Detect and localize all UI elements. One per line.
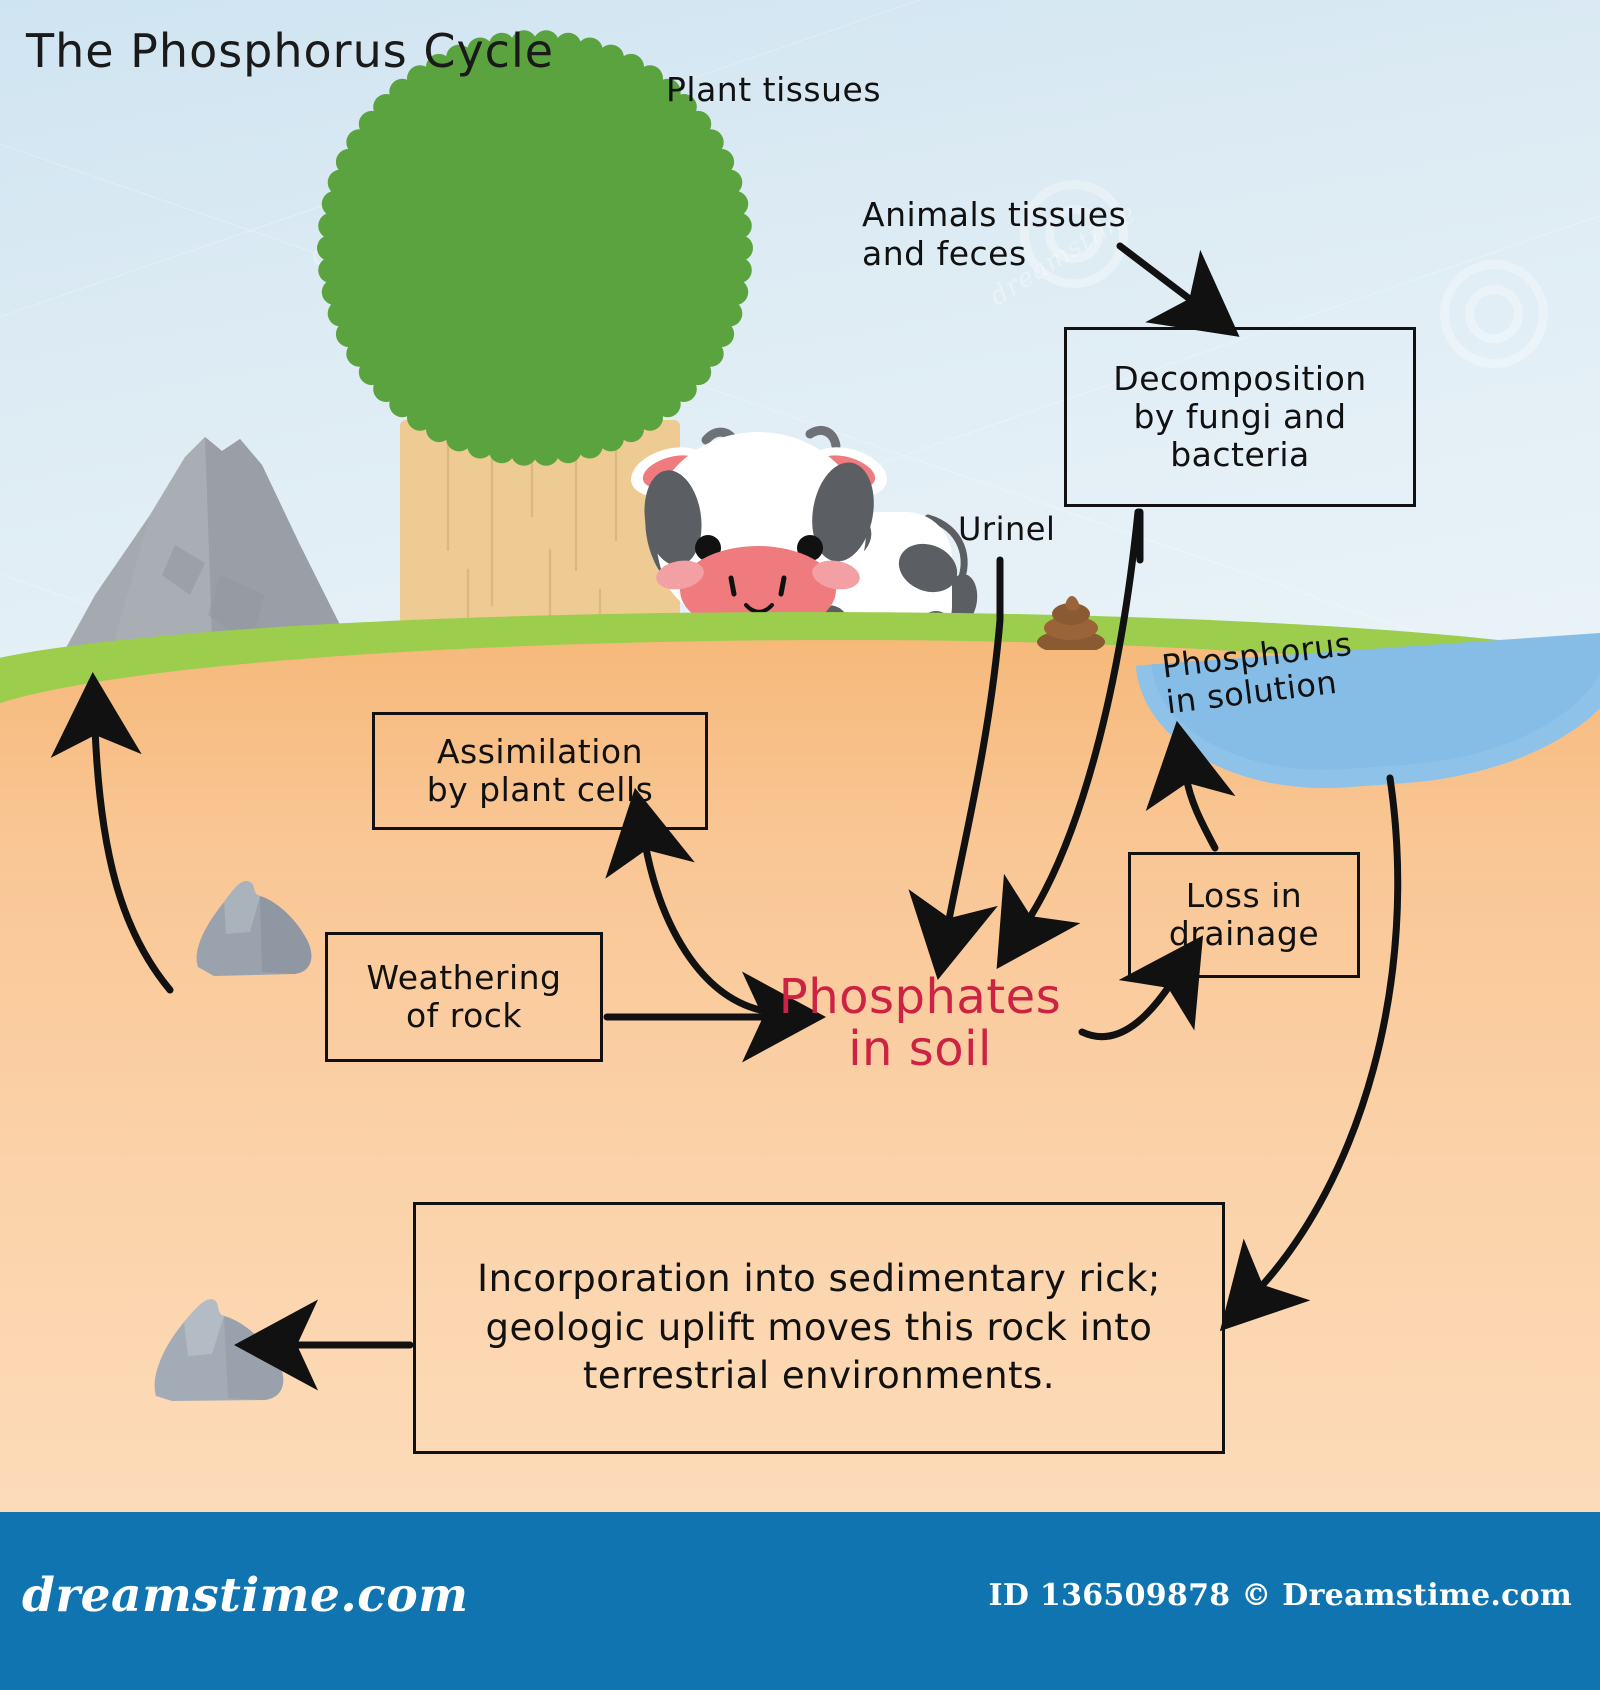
box-weathering-of-rock: Weathering of rock [325,932,603,1062]
label-phosphates-in-soil: Phosphates in soil [760,972,1080,1076]
box-loss-in-drainage: Loss in drainage [1128,852,1360,978]
box-decomposition: Decomposition by fungi and bacteria [1064,327,1416,507]
label-animals-tissues-and-feces: Animals tissues and feces [862,196,1126,274]
phosphorus-cycle-infographic: dreamstime dreamstime dreamstime dreamst… [0,0,1600,1690]
image-id-credit: ID 136509878 © Dreamstime.com [989,1578,1572,1613]
rock-lower [150,1288,295,1403]
rock-upper [190,872,320,977]
box-assimilation: Assimilation by plant cells [372,712,708,830]
label-urinel: Urinel [958,512,1055,548]
page-title: The Phosphorus Cycle [26,24,554,78]
box-sedimentary-rock: Incorporation into sedimentary rick; geo… [413,1202,1225,1454]
feces-icon [1033,588,1109,650]
dreamstime-logo: dreamstime.com [22,1568,468,1623]
footer-bar: dreamstime.com ID 136509878 © Dreamstime… [0,1512,1600,1690]
label-plant-tissues: Plant tissues [666,72,881,109]
illustration-scene: dreamstime dreamstime dreamstime dreamst… [0,0,1600,1512]
